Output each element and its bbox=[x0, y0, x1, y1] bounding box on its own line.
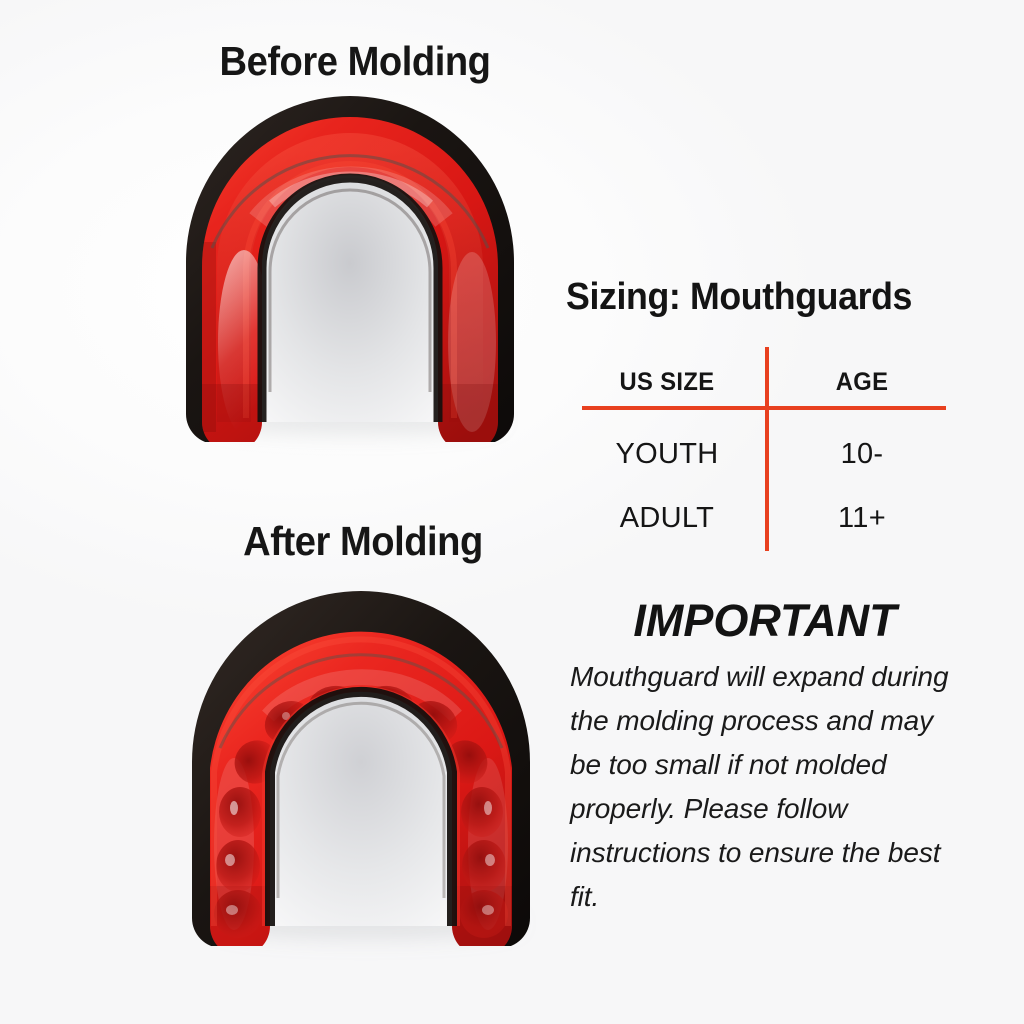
sizing-table: US SIZE AGE YOUTH 10- ADULT 11+ bbox=[566, 340, 958, 558]
product-infographic: Before Molding bbox=[0, 0, 1024, 1024]
mouthguard-unmolded-icon bbox=[172, 92, 528, 442]
important-body-text: Mouthguard will expand during the moldin… bbox=[570, 655, 962, 919]
mouthguard-molded-icon bbox=[176, 586, 546, 946]
sizing-table-title: Sizing: Mouthguards bbox=[566, 276, 912, 319]
table-horizontal-rule bbox=[582, 406, 946, 410]
table-header-us-size: US SIZE bbox=[579, 368, 756, 397]
table-cell-age-youth: 10- bbox=[774, 438, 950, 471]
before-molding-title: Before Molding bbox=[25, 38, 685, 85]
table-cell-size-adult: ADULT bbox=[574, 502, 760, 535]
table-header-age: AGE bbox=[778, 368, 945, 397]
important-heading: IMPORTANT bbox=[566, 595, 964, 647]
table-cell-age-adult: 11+ bbox=[774, 502, 950, 535]
table-cell-size-youth: YOUTH bbox=[574, 438, 760, 471]
table-vertical-rule bbox=[765, 347, 769, 551]
